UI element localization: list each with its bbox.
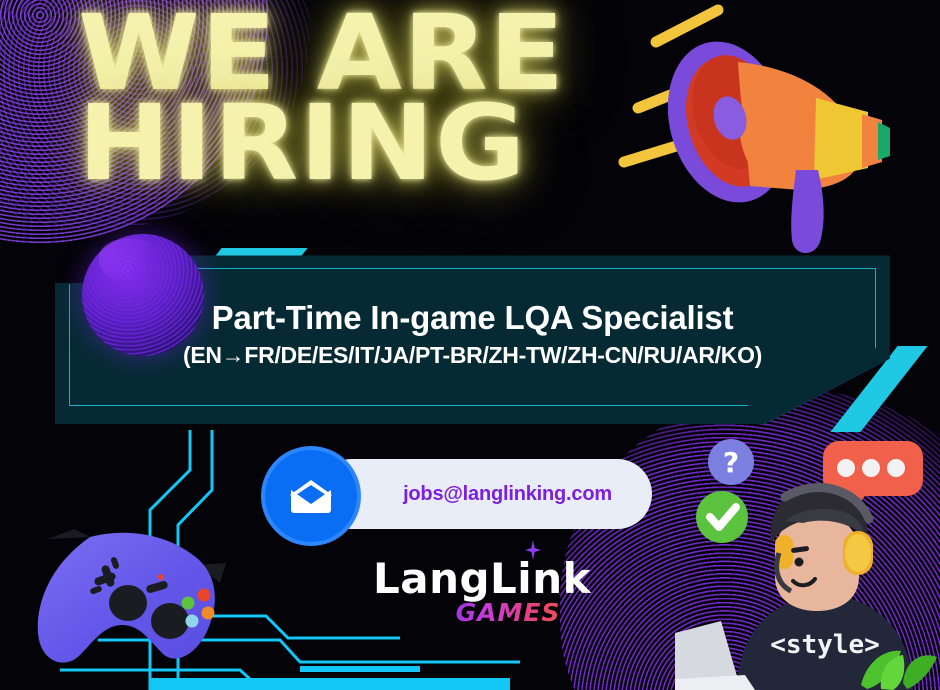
envelope-icon[interactable]	[265, 450, 357, 542]
logo-name: LangLink	[373, 554, 591, 603]
job-title: Part-Time In-game LQA Specialist	[55, 300, 890, 336]
banner-text: Part-Time In-game LQA Specialist (EN→FR/…	[55, 300, 890, 369]
email-address[interactable]: jobs@langlinking.com	[317, 459, 652, 529]
developer-character-illustration: ? <style>	[675, 435, 940, 690]
page-title: WE ARE HIRING	[78, 6, 678, 191]
hiring-poster: WE ARE HIRING Part-Time In-game LQA Spec…	[0, 0, 940, 690]
brand-logo: LangLink GAMES	[372, 558, 592, 627]
svg-text:?: ?	[723, 446, 739, 479]
job-language-pairs: (EN→FR/DE/ES/IT/JA/PT-BR/ZH-TW/ZH-CN/RU/…	[55, 342, 890, 369]
job-banner: Part-Time In-game LQA Specialist (EN→FR/…	[55, 252, 890, 424]
hoodie-text: <style>	[770, 630, 880, 660]
headline-line-2: HIRING	[78, 96, 714, 192]
check-badge-icon	[696, 491, 748, 543]
logo-wordmark: LangLink	[373, 558, 591, 600]
gamepad-icon	[30, 525, 265, 690]
